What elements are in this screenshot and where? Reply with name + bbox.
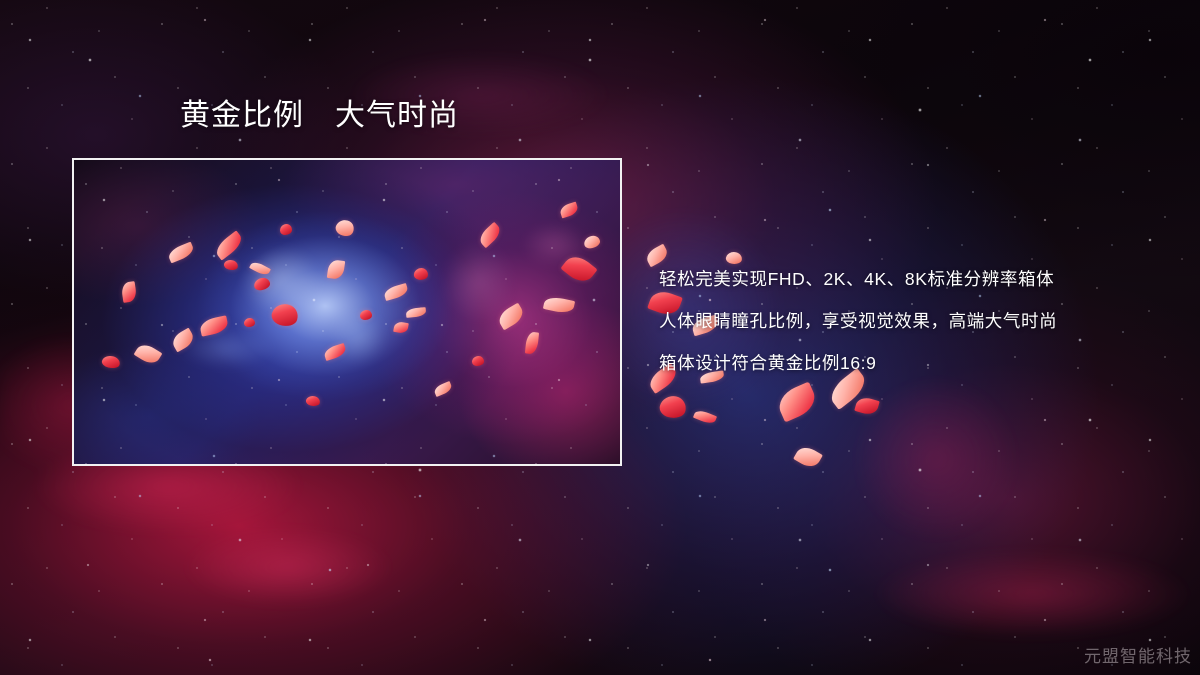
feature-description: 轻松完美实现FHD、2K、4K、8K标准分辨率箱体 人体眼睛瞳孔比例，享受视觉效… [659, 258, 1169, 384]
flower-petal [793, 443, 823, 471]
watermark: 元盟智能科技 [1084, 642, 1192, 667]
photo-wisp-layer [74, 160, 620, 464]
description-line: 箱体设计符合黄金比例16:9 [659, 342, 1169, 384]
framed-photo [72, 158, 622, 466]
description-line: 轻松完美实现FHD、2K、4K、8K标准分辨率箱体 [659, 258, 1169, 300]
page-title: 黄金比例 大气时尚 [180, 101, 459, 131]
flower-petal [774, 381, 820, 422]
description-line: 人体眼睛瞳孔比例，享受视觉效果，高端大气时尚 [659, 300, 1169, 342]
presentation-slide: 黄金比例 大气时尚 轻松完美实现FHD、2K、4K、8K标准分辨率箱体 人体眼睛… [0, 0, 1200, 675]
flower-petal [854, 395, 880, 416]
flower-petal [658, 393, 689, 421]
flower-petal [693, 408, 717, 426]
